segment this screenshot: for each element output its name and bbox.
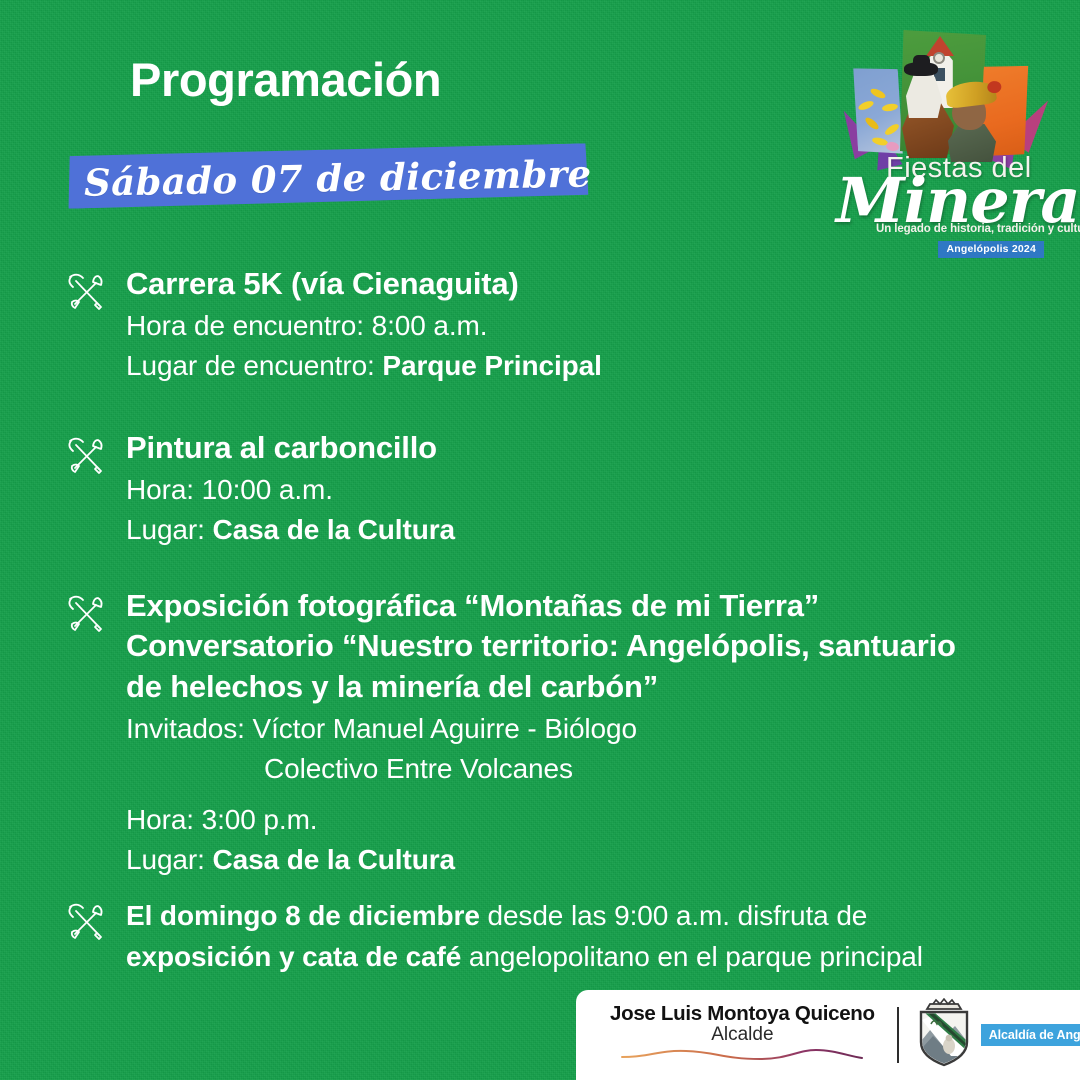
mayor-name: Jose Luis Montoya Quiceno [610, 1003, 875, 1025]
event-title: Carrera 5K (vía Cienaguita) [126, 266, 602, 302]
detail-value: 10:00 a.m. [202, 474, 333, 505]
detail-label: Hora: [126, 804, 202, 835]
vertical-divider-icon [897, 1007, 899, 1063]
detail-value: Casa de la Cultura [212, 844, 455, 875]
crossed-pickaxe-shovel-icon [62, 432, 108, 478]
mayor-block: Jose Luis Montoya Quiceno Alcalde [610, 1003, 881, 1067]
paragraph-rest-1: desde las 9:00 a.m. disfruta de [480, 900, 867, 931]
event-item-exposicion-fotografica: Exposición fotográfica “Montañas de mi T… [62, 588, 956, 880]
logo-year-badge: Angelópolis 2024 [938, 241, 1044, 258]
event-item-domingo-cata-de-cafe: El domingo 8 de diciembre desde las 9:00… [62, 896, 923, 978]
event-body: Carrera 5K (vía Cienaguita) Hora de encu… [126, 266, 602, 386]
event-detail-line: Lugar de encuentro: Parque Principal [126, 346, 602, 386]
event-detail-line: Lugar: Casa de la Cultura [126, 510, 455, 550]
detail-label: Lugar: [126, 844, 212, 875]
event-detail-line: Lugar: Casa de la Cultura [126, 840, 956, 880]
hat-icon [904, 62, 938, 76]
alcaldia-badge: Alcaldía de Angelópolis [981, 1024, 1080, 1046]
event-detail-line: Hora de encuentro: 8:00 a.m. [126, 306, 602, 346]
event-paragraph-line-2: exposición y cata de café angelopolitano… [126, 937, 923, 978]
event-program-poster: Programación Sábado 07 de diciembre [0, 0, 1080, 1080]
detail-value: Parque Principal [382, 350, 601, 381]
event-detail-line: Hora: 3:00 p.m. [126, 800, 956, 840]
detail-value: Casa de la Cultura [212, 514, 455, 545]
event-title-line-1: Exposición fotográfica “Montañas de mi T… [126, 588, 956, 624]
event-body: Exposición fotográfica “Montañas de mi T… [126, 588, 956, 880]
seal-group: Alcaldía de Angelópolis [915, 998, 1080, 1073]
paragraph-bold-1: El domingo 8 de diciembre [126, 900, 480, 931]
detail-label: Hora de encuentro: [126, 310, 372, 341]
wave-flourish-icon [620, 1046, 864, 1067]
detail-value: 3:00 p.m. [202, 804, 318, 835]
event-guests-line-2: Colectivo Entre Volcanes [126, 749, 956, 789]
event-detail-line: Hora: 10:00 a.m. [126, 470, 455, 510]
mayor-role: Alcalde [711, 1025, 773, 1045]
church-clock-icon [933, 52, 945, 64]
footer-card: Jose Luis Montoya Quiceno Alcalde [576, 990, 1080, 1080]
event-title-line-3: de helechos y la minería del carbón” [126, 669, 956, 705]
event-title: Pintura al carboncillo [126, 430, 455, 466]
event-paragraph-line-1: El domingo 8 de diciembre desde las 9:00… [126, 896, 923, 937]
festival-collage-icon [828, 24, 1054, 162]
detail-label: Lugar de encuentro: [126, 350, 382, 381]
event-body: El domingo 8 de diciembre desde las 9:00… [126, 896, 923, 978]
crossed-pickaxe-shovel-icon [62, 268, 108, 314]
fiestas-del-mineral-logo: Fiestas del Mineral Un legado de histori… [828, 24, 1054, 240]
detail-value: 8:00 a.m. [372, 310, 488, 341]
crossed-pickaxe-shovel-icon [62, 898, 108, 944]
crossed-pickaxe-shovel-icon [62, 590, 108, 636]
paragraph-rest-2: angelopolitano en el parque principal [461, 941, 923, 972]
date-ribbon-label: Sábado 07 de diciembre [84, 147, 605, 209]
detail-label: Hora: [126, 474, 202, 505]
event-title-line-2: Conversatorio “Nuestro territorio: Angel… [126, 628, 956, 664]
paragraph-bold-2: exposición y cata de café [126, 941, 461, 972]
logo-tagline: Un legado de historia, tradición y cultu… [876, 223, 1080, 235]
detail-label: Lugar: [126, 514, 212, 545]
event-item-pintura-al-carboncillo: Pintura al carboncillo Hora: 10:00 a.m. … [62, 430, 455, 550]
event-guests-line: Invitados: Víctor Manuel Aguirre - Biólo… [126, 709, 956, 749]
event-item-carrera-5k: Carrera 5K (vía Cienaguita) Hora de encu… [62, 266, 602, 386]
page-title: Programación [130, 56, 441, 103]
event-body: Pintura al carboncillo Hora: 10:00 a.m. … [126, 430, 455, 550]
angelopolis-coat-of-arms-icon [915, 998, 973, 1073]
